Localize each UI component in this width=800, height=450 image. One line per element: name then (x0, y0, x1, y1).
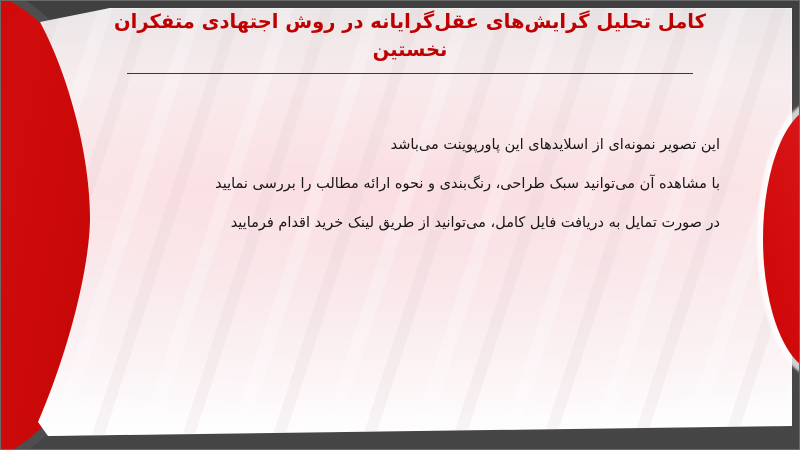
body-line-3: در صورت تمایل به دریافت فایل کامل، می‌تو… (120, 211, 720, 236)
slide-title: کامل تحلیل گرایش‌های عقل‌گرایانه در روش … (110, 8, 710, 65)
body-line-2: با مشاهده آن می‌توانید سبک طراحی، رنگ‌بن… (120, 172, 720, 197)
body-line-1: این تصویر نمونه‌ای از اسلایدهای این پاور… (120, 133, 720, 158)
title-divider-rule (127, 73, 693, 74)
slide-body-block: این تصویر نمونه‌ای از اسلایدهای این پاور… (120, 118, 720, 251)
slide-title-block: کامل تحلیل گرایش‌های عقل‌گرایانه در روش … (110, 8, 710, 74)
presentation-slide: کامل تحلیل گرایش‌های عقل‌گرایانه در روش … (0, 0, 800, 450)
